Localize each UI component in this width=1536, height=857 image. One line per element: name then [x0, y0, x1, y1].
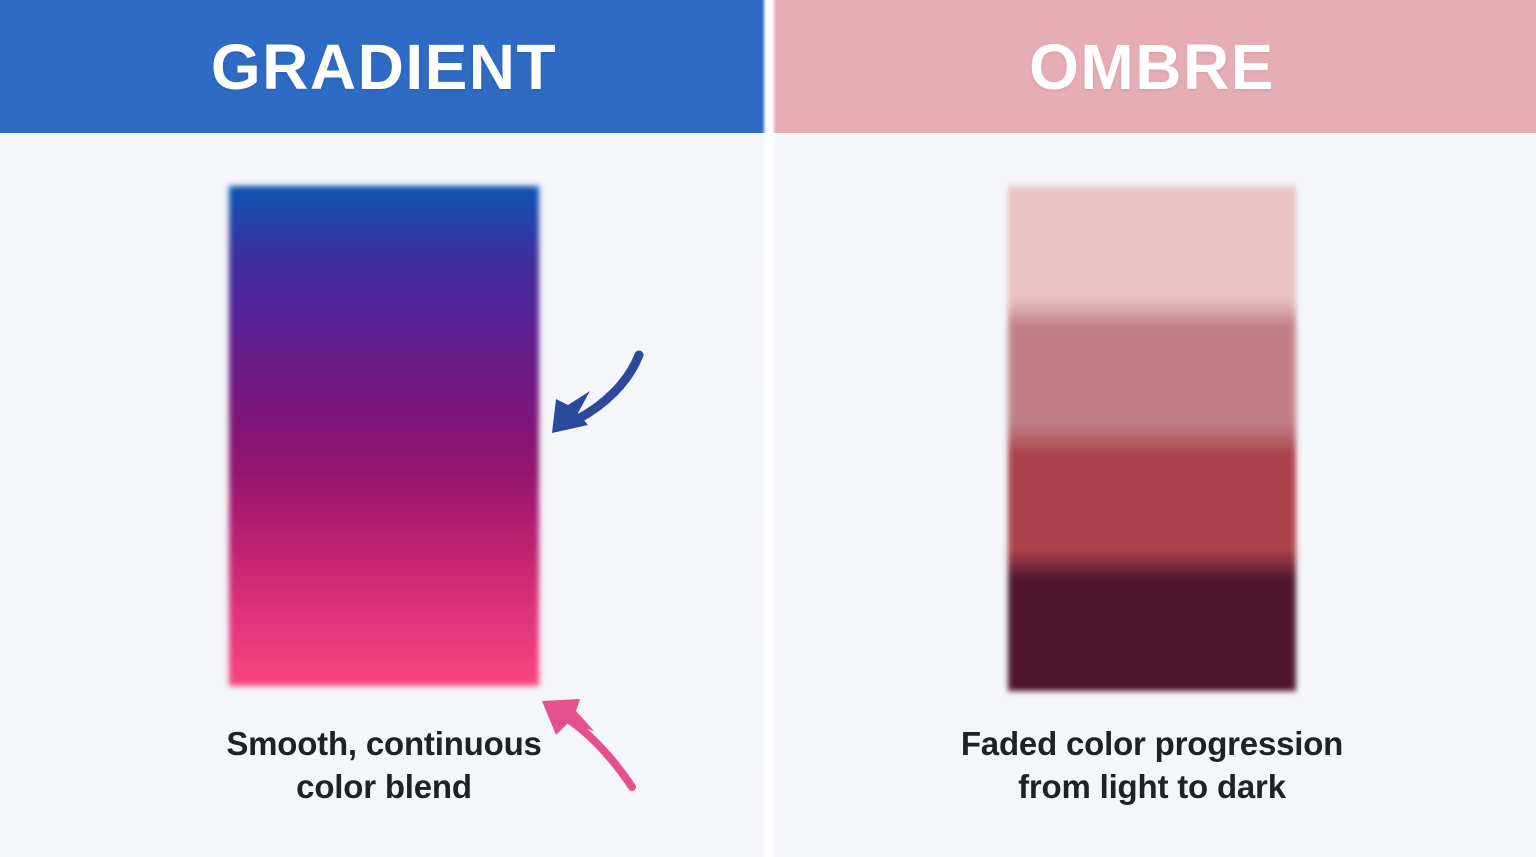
panel-ombre-header: OMBRE	[768, 0, 1536, 133]
arrow-pink-icon	[524, 689, 644, 794]
caption-ombre: Faded color progression from light to da…	[768, 722, 1536, 809]
ombre-swatch	[1008, 186, 1296, 691]
page-title-gradient: GRADIENT	[211, 35, 557, 99]
arrow-blue-icon	[538, 347, 648, 447]
panel-gradient-header: GRADIENT	[0, 0, 768, 133]
caption-gradient-line1: Smooth, continuous	[226, 725, 541, 762]
panel-ombre: OMBRE Faded color progres	[768, 0, 1536, 857]
caption-ombre-line1: Faded color progression	[961, 725, 1343, 762]
ombre-swatch-wrap	[1008, 186, 1296, 691]
caption-ombre-line2: from light to dark	[808, 765, 1496, 809]
panel-ombre-stage: Faded color progression from light to da…	[768, 133, 1536, 857]
panel-gradient-stage: Smooth, continuous color blend	[0, 133, 768, 857]
caption-gradient: Smooth, continuous color blend	[0, 722, 768, 809]
comparison-board: GRADIENT Smooth, continuo	[0, 0, 1536, 857]
panel-gradient: GRADIENT Smooth, continuo	[0, 0, 768, 857]
page-title-ombre: OMBRE	[1029, 35, 1275, 99]
gradient-swatch-wrap	[229, 186, 539, 686]
gradient-swatch	[229, 186, 539, 686]
